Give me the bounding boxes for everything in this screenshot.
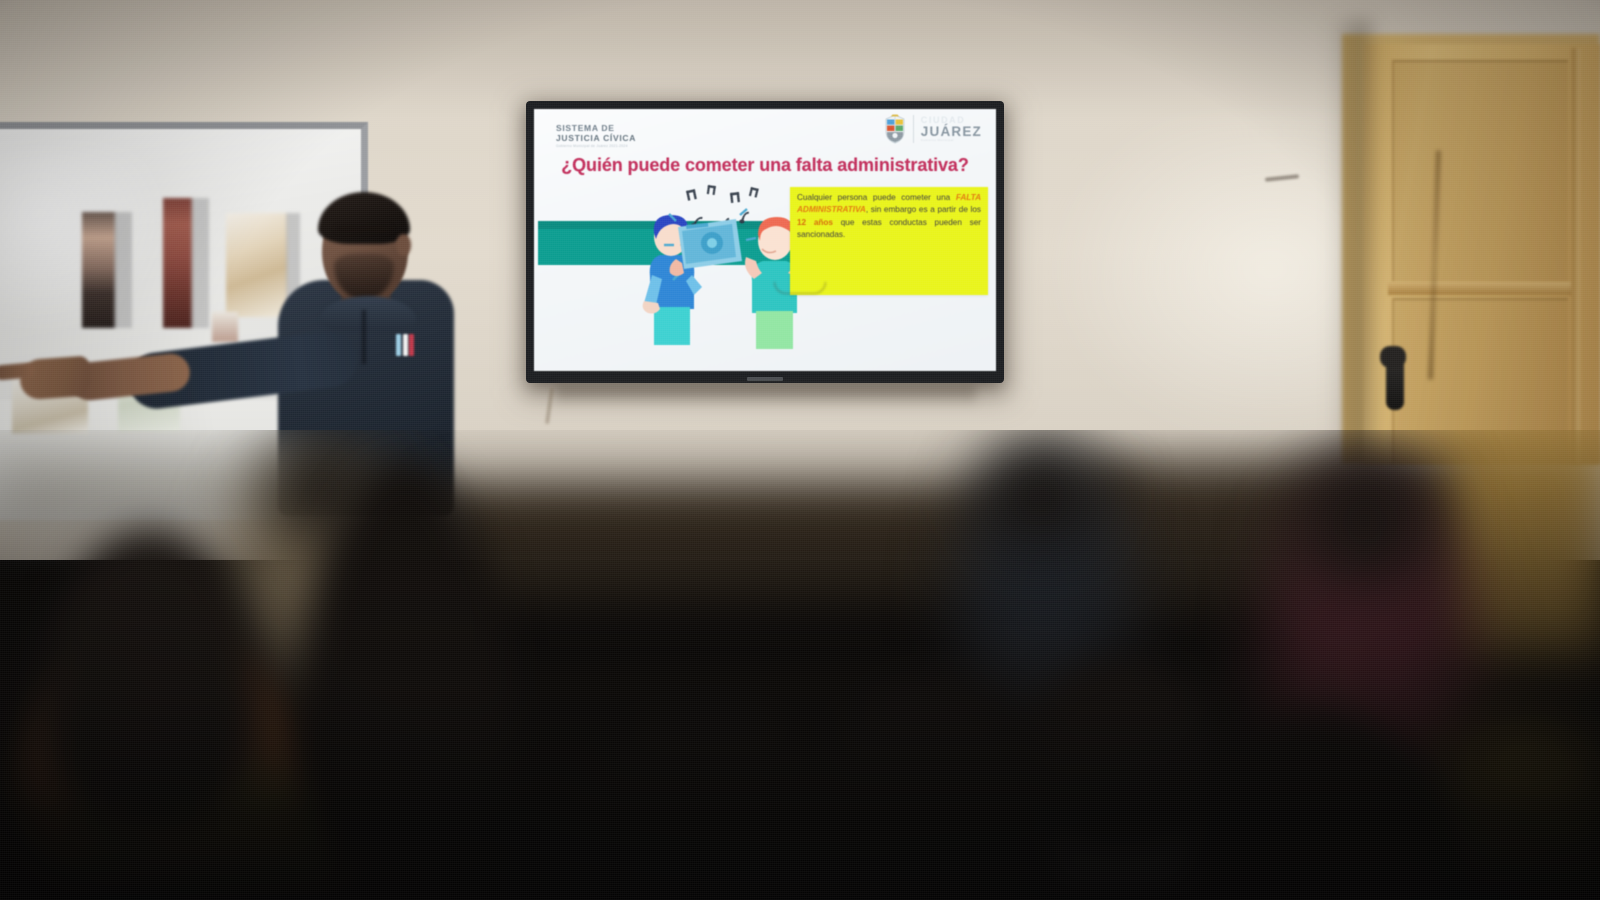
tv-brand-mark (747, 377, 783, 381)
taped-red-paper (163, 198, 193, 328)
sistema-justicia-civica-logo: SISTEMA DE JUSTICIA CÍVICA Gobierno Muni… (556, 117, 636, 148)
door-stile (1572, 48, 1580, 464)
ciudad-juarez-logo: CIUDAD JUÁREZ Gobierno Municipal (884, 114, 982, 144)
audience-darkening-overlay (0, 430, 1600, 900)
slide-header: SISTEMA DE JUSTICIA CÍVICA Gobierno Muni… (534, 109, 996, 153)
juarez-tagline: Gobierno Municipal (921, 139, 982, 142)
audience (0, 430, 1600, 900)
presenter-hair (318, 192, 410, 244)
sjc-logo-line1: SISTEMA DE (556, 123, 636, 133)
sjc-logo-tagline: Gobierno Municipal de Juárez 2021-2024 (556, 144, 636, 148)
callout-seg-1: Cualquier persona puede cometer una (797, 193, 956, 202)
presenter-ear (396, 234, 411, 256)
sjc-logo-line2: JUSTICIA CÍVICA (556, 133, 636, 143)
presentation-slide: SISTEMA DE JUSTICIA CÍVICA Gobierno Muni… (534, 109, 996, 371)
wall-mounted-tv[interactable]: SISTEMA DE JUSTICIA CÍVICA Gobierno Muni… (526, 101, 1004, 383)
tv-chin-tab (774, 282, 826, 294)
presenter-hand (19, 356, 92, 401)
door-handle[interactable] (1386, 352, 1404, 410)
pen-red (409, 334, 414, 356)
door-rail (1388, 282, 1572, 295)
slide-title: ¿Quién puede cometer una falta administr… (534, 155, 996, 176)
tv-mount-shadow (556, 385, 976, 407)
callout-highlight-12-anios: 12 años (797, 218, 833, 227)
coat-of-arms-icon (884, 114, 906, 144)
taped-portrait-paper (82, 212, 116, 328)
door-panel-upper (1392, 60, 1568, 282)
pen-blue (396, 334, 401, 356)
juarez-line2: JUÁREZ (921, 125, 982, 139)
pen-white (403, 334, 408, 356)
yellow-text-callout: Cualquier persona puede cometer una FALT… (790, 187, 988, 295)
tape-strip (114, 212, 132, 328)
callout-seg-3: , sin embargo es a partir de los (866, 205, 981, 214)
presenter-shirt-placket (362, 310, 366, 364)
presenter-pocket-pens (396, 334, 414, 356)
logo-divider (913, 115, 914, 143)
presenter-brow (336, 226, 392, 232)
classroom-scene: SISTEMA DE JUSTICIA CÍVICA Gobierno Muni… (0, 0, 1600, 900)
door-edge-shadow (1330, 20, 1370, 470)
juarez-wordmark: CIUDAD JUÁREZ Gobierno Municipal (921, 116, 982, 143)
